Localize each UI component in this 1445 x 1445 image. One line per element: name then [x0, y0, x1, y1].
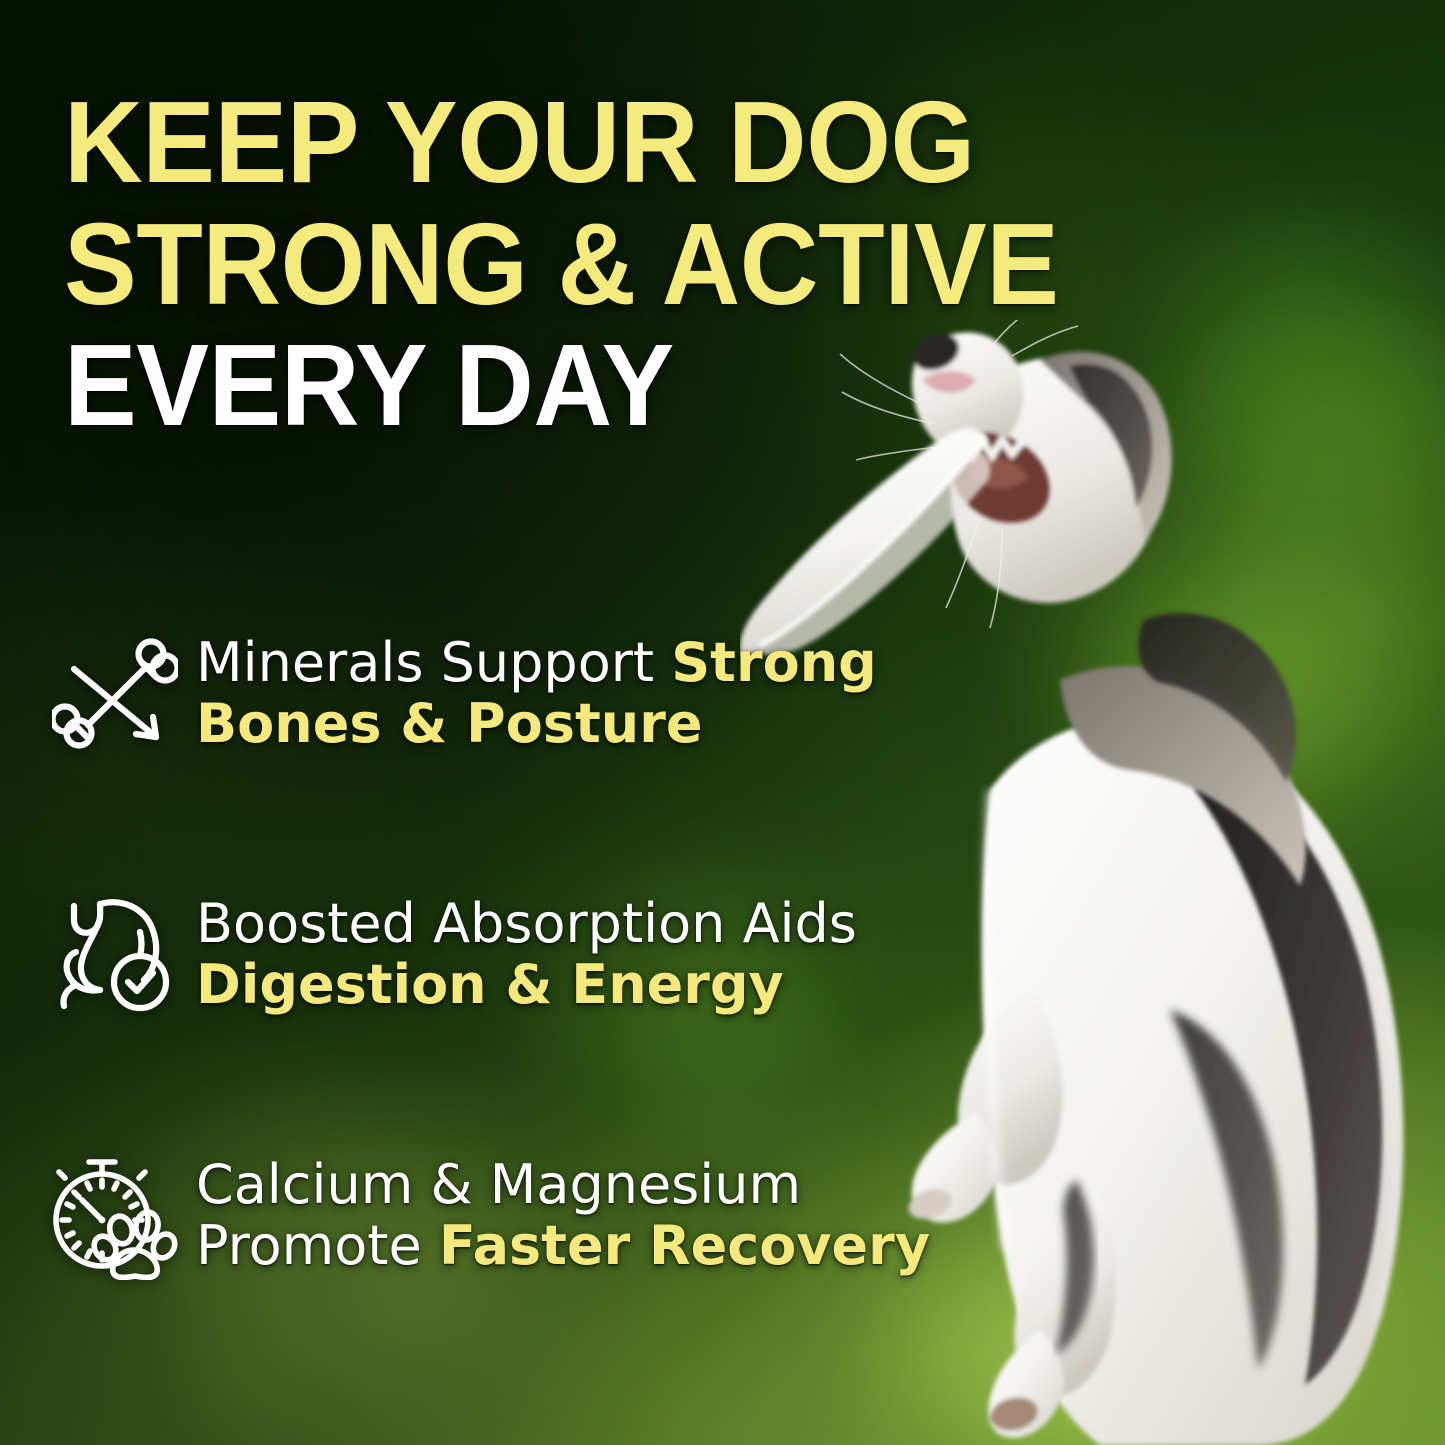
- page-title: KEEP YOUR DOG STRONG & ACTIVE EVERY DAY: [64, 86, 1124, 451]
- headline-line-3: EVERY DAY: [64, 329, 1060, 443]
- feature-item-digestion: Boosted Absorption Aids Digestion & Ener…: [40, 867, 980, 1042]
- feature-2-line1-regular: Boosted Absorption Aids: [196, 892, 857, 955]
- feature-item-bones: Minerals Support Strong Bones & Posture: [40, 606, 980, 781]
- stomach-check-icon: [40, 885, 190, 1025]
- feature-3-line2-highlight: Faster Recovery: [439, 1214, 930, 1277]
- headline-line-1: KEEP YOUR DOG: [64, 86, 1060, 200]
- feature-text-digestion: Boosted Absorption Aids Digestion & Ener…: [190, 894, 980, 1015]
- feature-2-line2-highlight: Digestion & Energy: [196, 953, 784, 1016]
- feature-list: Minerals Support Strong Bones & Posture: [40, 606, 980, 1303]
- feature-3-line2-regular: Promote: [196, 1214, 439, 1277]
- headline-line-2: STRONG & ACTIVE: [64, 208, 1060, 322]
- bone-with-arrow-icon: [40, 624, 190, 764]
- stopwatch-paw-icon: [40, 1146, 190, 1286]
- feature-item-recovery: Calcium & Magnesium Promote Faster Recov…: [40, 1128, 980, 1303]
- feature-1-line1-highlight: Strong: [671, 631, 877, 694]
- feature-3-line1-regular: Calcium & Magnesium: [196, 1153, 801, 1216]
- feature-text-recovery: Calcium & Magnesium Promote Faster Recov…: [190, 1155, 980, 1276]
- feature-1-line2-highlight: Bones & Posture: [196, 692, 703, 755]
- marketing-banner: KEEP YOUR DOG STRONG & ACTIVE EVERY DAY: [0, 0, 1445, 1445]
- feature-text-bones: Minerals Support Strong Bones & Posture: [190, 633, 980, 754]
- feature-1-line1-regular: Minerals Support: [196, 631, 671, 694]
